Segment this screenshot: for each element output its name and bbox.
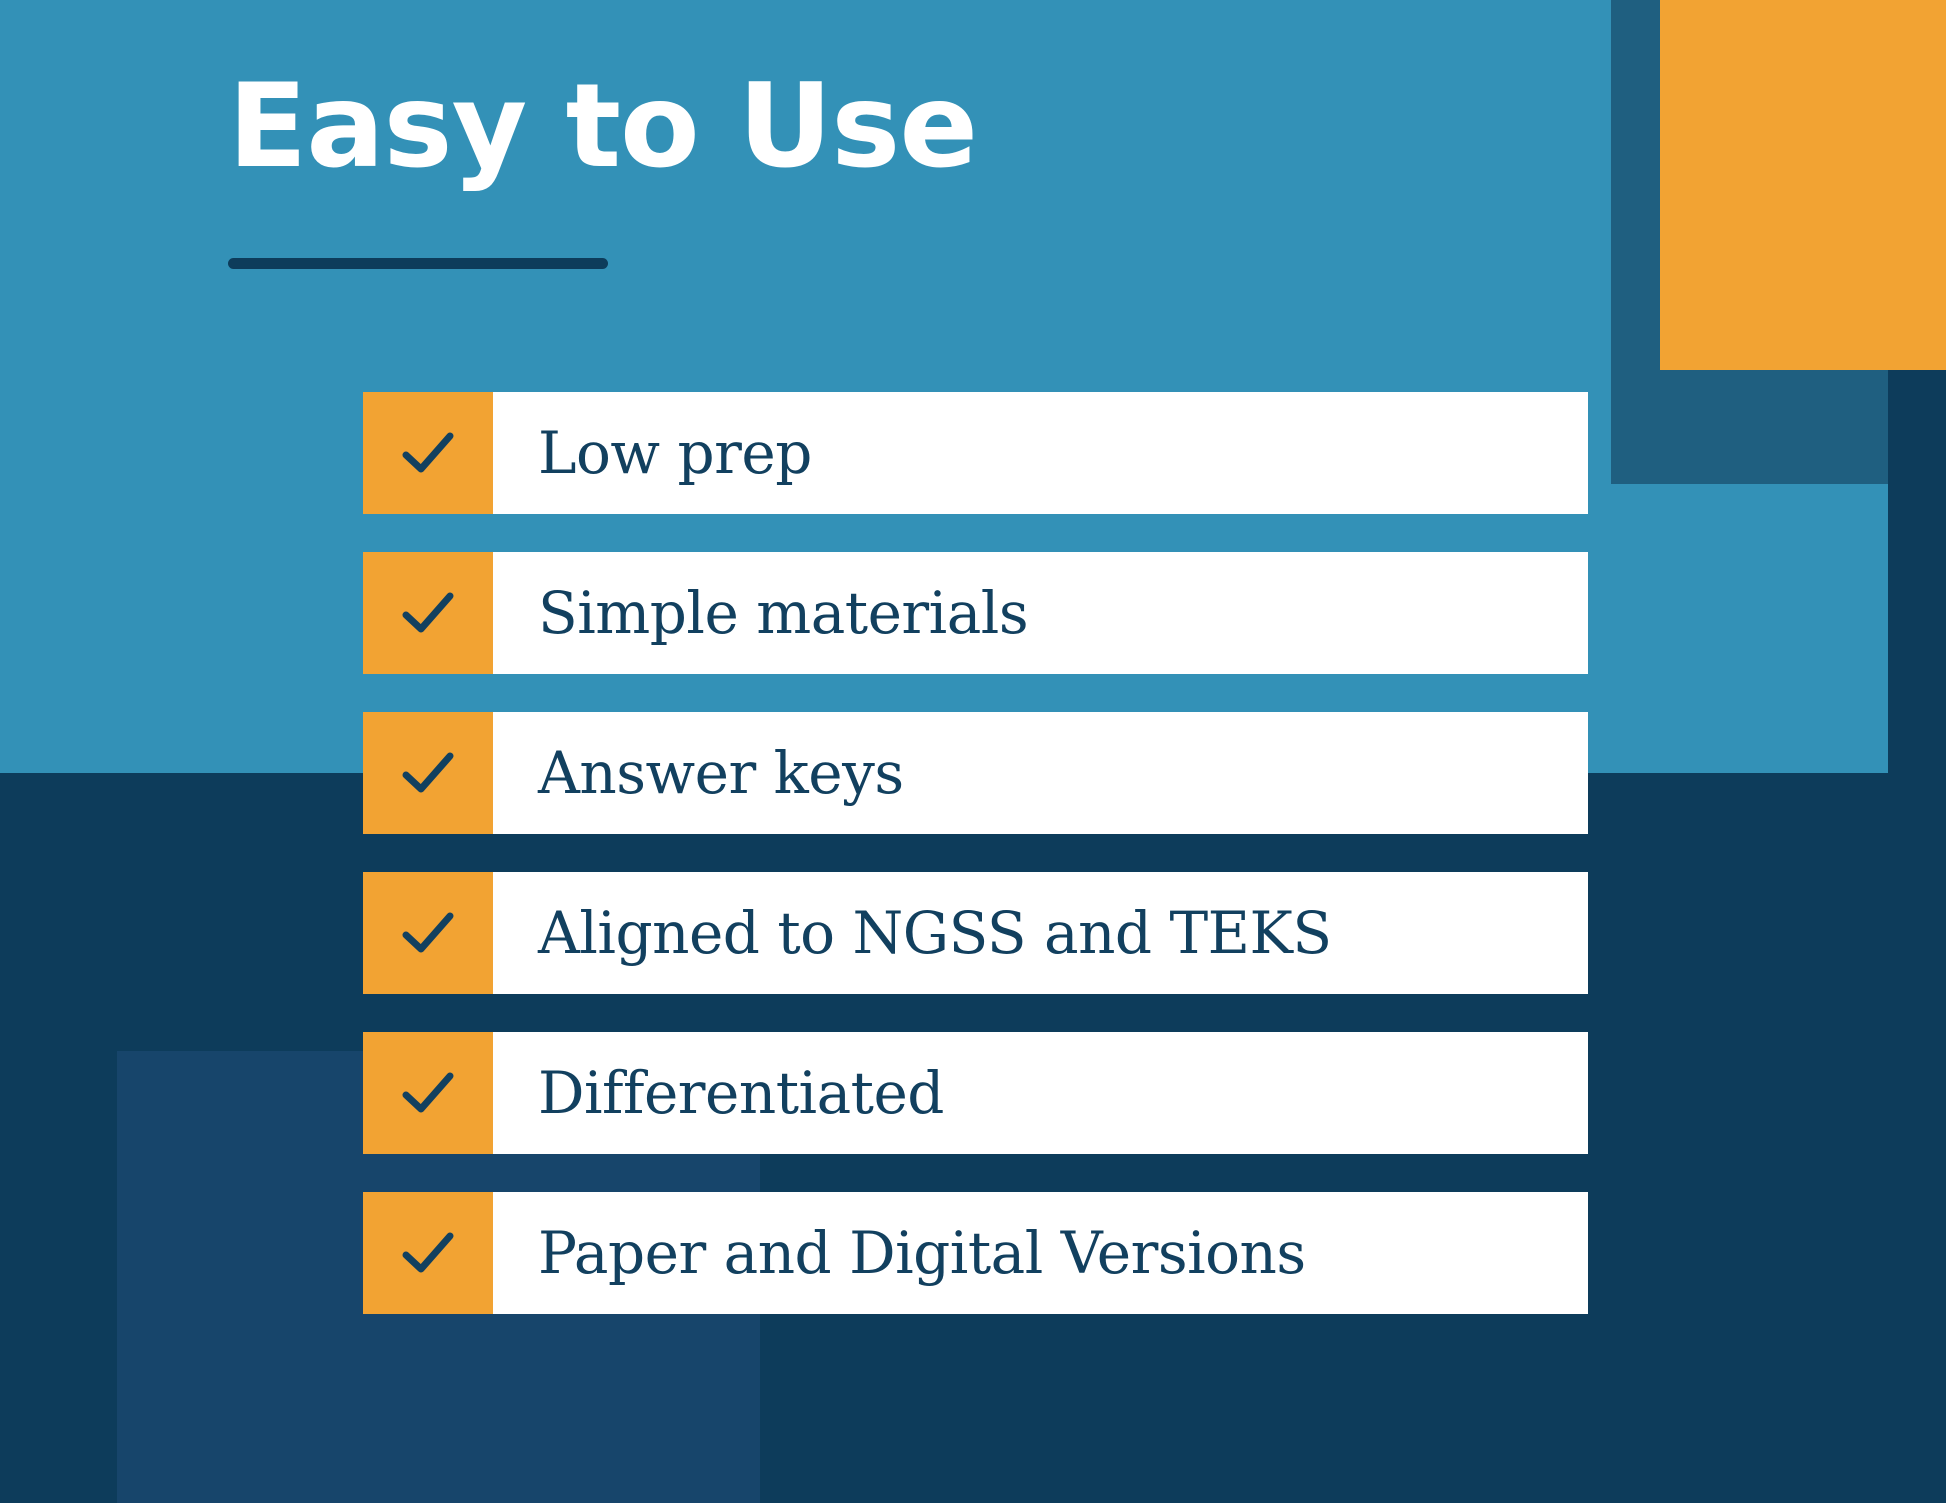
check-icon (401, 1066, 455, 1120)
list-item-label: Paper and Digital Versions (493, 1192, 1588, 1314)
check-icon (401, 746, 455, 800)
checkbox-filled[interactable] (363, 872, 493, 994)
list-item[interactable]: Simple materials (363, 552, 1588, 674)
checkbox-filled[interactable] (363, 1192, 493, 1314)
background-navy-right-column (1888, 370, 1946, 1503)
check-icon (401, 906, 455, 960)
background-teal-right-strip (1611, 484, 1888, 773)
list-item-label: Answer keys (493, 712, 1588, 834)
list-item-label: Simple materials (493, 552, 1588, 674)
checkbox-filled[interactable] (363, 712, 493, 834)
list-item[interactable]: Low prep (363, 392, 1588, 514)
checkbox-filled[interactable] (363, 392, 493, 514)
checkbox-filled[interactable] (363, 1032, 493, 1154)
title-underline (228, 258, 608, 269)
list-item[interactable]: Aligned to NGSS and TEKS (363, 872, 1588, 994)
list-item-label: Low prep (493, 392, 1588, 514)
check-icon (401, 426, 455, 480)
check-icon (401, 586, 455, 640)
page-title: Easy to Use (228, 62, 977, 192)
list-item-label: Aligned to NGSS and TEKS (493, 872, 1588, 994)
list-item[interactable]: Paper and Digital Versions (363, 1192, 1588, 1314)
background-orange-top-right (1660, 0, 1946, 370)
check-icon (401, 1226, 455, 1280)
poster-canvas: Easy to Use Low prep Simple materials (0, 0, 1946, 1503)
feature-checklist: Low prep Simple materials Answer keys (363, 392, 1588, 1314)
list-item[interactable]: Answer keys (363, 712, 1588, 834)
list-item[interactable]: Differentiated (363, 1032, 1588, 1154)
checkbox-filled[interactable] (363, 552, 493, 674)
list-item-label: Differentiated (493, 1032, 1588, 1154)
